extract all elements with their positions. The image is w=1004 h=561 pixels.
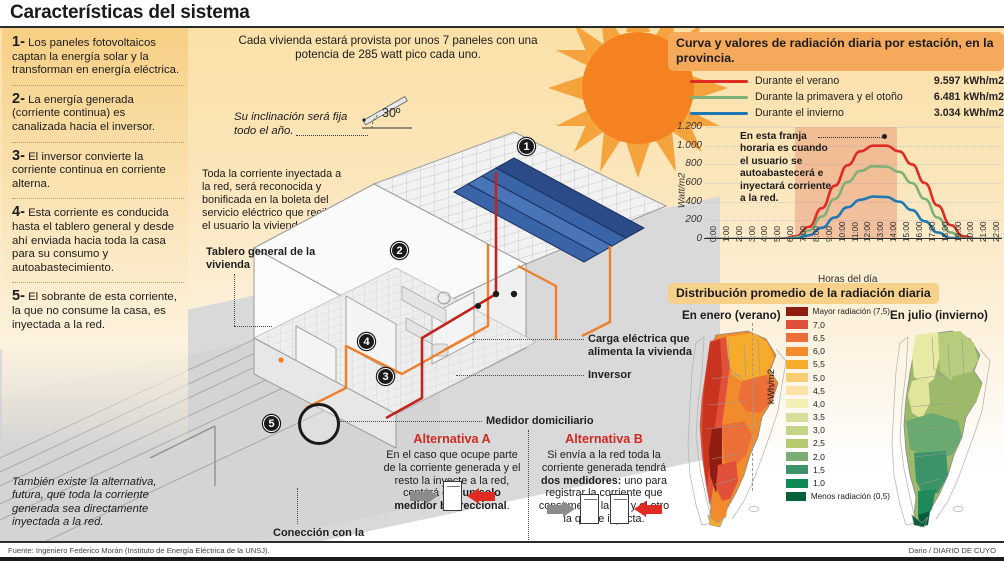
callout-tablero-leader <box>234 274 235 326</box>
chart-x-tick-22: 22:00 <box>992 222 1001 243</box>
step-5: 5- El sobrante de esta corriente, la que… <box>12 290 180 332</box>
legend-swatch-invierno <box>690 112 748 115</box>
radiation-scale-rows: Mayor radiación (7,5)7,06,56,05,55,04,54… <box>786 305 890 503</box>
map-left-caption: En enero (verano) <box>682 309 781 322</box>
meter-highlight-ring <box>298 403 340 445</box>
marker-2: 2 <box>391 242 408 259</box>
map-argentina-july <box>886 325 994 531</box>
legend-label-invierno: Durante el invierno <box>755 107 934 119</box>
chart-x-tick-0: 0:00 <box>709 226 718 242</box>
chart-x-tick-6: 6:00 <box>786 226 795 242</box>
step-2: 2- La energía generada (corriente contin… <box>12 93 180 135</box>
callout-tablero-leader-h <box>234 326 272 327</box>
legend-label-primavera: Durante la primavera y el otoño <box>755 91 934 103</box>
scale-swatch-5 <box>786 373 808 382</box>
scale-row-7: 4,0 <box>786 397 890 410</box>
tilt-angle-label: 30º <box>382 106 400 120</box>
marker-3: 3 <box>377 368 394 385</box>
scale-swatch-1 <box>786 320 808 329</box>
arrow-inject-icon-b <box>634 501 662 517</box>
radiation-scale-axis <box>752 323 753 491</box>
callout-conexion-leader <box>297 488 298 524</box>
alternative-b-title: Alternativa B <box>534 432 674 446</box>
map-right-caption: En julio (invierno) <box>890 309 988 322</box>
step-2-number: 2- <box>12 91 25 107</box>
radiation-scale-unit: kWh/m2 <box>766 369 777 404</box>
chart-x-tick-19: 19:00 <box>954 222 963 243</box>
callout-inversor: Inversor <box>588 369 631 382</box>
footer-bottom-bar <box>0 557 1004 561</box>
callout-carga-leader <box>472 339 584 340</box>
step-divider-2 <box>12 142 184 143</box>
step-3-number: 3- <box>12 148 25 164</box>
marker-1: 1 <box>518 138 535 155</box>
scale-swatch-9 <box>786 426 808 435</box>
legend-value-verano: 9.597 kWh/m2 <box>934 75 1004 87</box>
chart-x-tick-17: 17:00 <box>928 222 937 243</box>
step-1-number: 1- <box>12 34 25 50</box>
alternative-a-meters <box>382 481 522 511</box>
panels-note: Cada vivienda estará provista por unos 7… <box>228 34 548 62</box>
step-4: 4- Esta corriente es conducida hasta el … <box>12 206 180 275</box>
scale-label-5: 5,0 <box>813 373 825 383</box>
scale-label-11: 2,0 <box>813 452 825 462</box>
scale-label-10: 2,5 <box>813 438 825 448</box>
step-3-text: El inversor convierte la corriente conti… <box>12 151 166 190</box>
legend-swatch-verano <box>690 80 748 83</box>
scale-swatch-11 <box>786 452 808 461</box>
chart-franja-note: En esta franja horaria es cuando el usua… <box>740 131 836 205</box>
scale-swatch-4 <box>786 360 808 369</box>
scale-row-8: 3,5 <box>786 411 890 424</box>
alternative-b: Alternativa B Si envía a la red toda la … <box>534 432 674 526</box>
callout-tablero: Tablero general de la vivienda <box>206 246 316 272</box>
scale-swatch-0 <box>786 307 808 316</box>
callout-medidor: Medidor domiciliario <box>486 415 594 428</box>
scale-label-8: 3,5 <box>813 412 825 422</box>
scale-label-14: Menos radiación (0,5) <box>811 492 890 501</box>
alternative-a-title: Alternativa A <box>382 432 522 446</box>
legend-item-verano: Durante el verano 9.597 kWh/m2 <box>668 75 1004 87</box>
scale-row-0: Mayor radiación (7,5) <box>786 305 890 318</box>
scale-swatch-13 <box>786 479 808 488</box>
chart-y-tick-1000: 1.000 <box>668 140 702 151</box>
scale-label-3: 6,0 <box>813 346 825 356</box>
scale-swatch-8 <box>786 413 808 422</box>
maps-banner: Distribución promedio de la radiación di… <box>668 283 939 304</box>
scale-swatch-10 <box>786 439 808 448</box>
meter-bidirectional-icon <box>443 481 462 511</box>
chart-x-tick-18: 18:00 <box>941 222 950 243</box>
step-4-number: 4- <box>12 204 25 220</box>
alternative-b-body-bold: dos medidores: <box>541 475 621 487</box>
step-divider-4 <box>12 282 184 283</box>
scale-row-6: 4,5 <box>786 384 890 397</box>
alternatives-section: Alternativa A En el caso que ocupe parte… <box>382 432 674 541</box>
chart-x-tick-16: 16:00 <box>915 222 924 243</box>
alternatives-divider <box>528 430 529 541</box>
scale-row-10: 2,5 <box>786 437 890 450</box>
legend-label-verano: Durante el verano <box>755 75 934 87</box>
scale-swatch-12 <box>786 465 808 474</box>
step-divider-3 <box>12 198 184 199</box>
right-panel: Curva y valores de radiación diaria por … <box>668 28 1004 541</box>
chart-x-tick-11: 11:00 <box>851 222 860 242</box>
legend-value-invierno: 3.034 kWh/m2 <box>934 107 1004 119</box>
scale-label-12: 1,5 <box>813 465 825 475</box>
legend-value-primavera: 6.481 kWh/m2 <box>934 91 1004 103</box>
chart-y-tick-600: 600 <box>668 177 702 188</box>
arrow-inject-icon <box>467 488 495 504</box>
marker-4: 4 <box>358 333 375 350</box>
chart-x-tick-1: 1:00 <box>722 226 731 242</box>
step-4-text: Esta corriente es conducida hasta el tab… <box>12 207 174 273</box>
arrow-consume-icon-b <box>547 501 575 517</box>
chart-x-tick-21: 21:00 <box>979 222 988 243</box>
chart-x-tick-15: 15:00 <box>902 222 911 243</box>
chart-x-tick-4: 4:00 <box>760 226 769 242</box>
scale-row-11: 2,0 <box>786 450 890 463</box>
chart-x-tick-12: 12:00 <box>863 222 872 243</box>
chart-x-tick-5: 5:00 <box>773 226 782 242</box>
chart-y-tick-200: 200 <box>668 214 702 225</box>
chart-x-tick-13: 13:00 <box>876 222 885 243</box>
chart-x-tick-14: 14:00 <box>889 222 898 243</box>
radiation-scale: Mayor radiación (7,5)7,06,56,05,55,04,54… <box>786 305 890 503</box>
house-illustration <box>196 126 686 456</box>
meter-consumption-icon <box>580 494 599 524</box>
chart-legend: Durante el verano 9.597 kWh/m2 Durante l… <box>668 75 1004 119</box>
chart-x-tick-2: 2:00 <box>735 226 744 242</box>
chart-franja-leader <box>818 137 884 138</box>
scale-swatch-14 <box>786 492 806 501</box>
scale-row-9: 3,0 <box>786 424 890 437</box>
future-alternative-note: También existe la alternativa, futura, q… <box>12 476 177 530</box>
maps-section: Distribución promedio de la radiación di… <box>668 283 1004 541</box>
page-title: Características del sistema <box>10 2 250 24</box>
scale-row-14: Menos radiación (0,5) <box>786 490 890 503</box>
infographic-canvas: 1- Los paneles fotovoltaicos captan la e… <box>0 28 1004 541</box>
scale-row-13: 1,0 <box>786 476 890 489</box>
chart-x-tick-20: 20:00 <box>966 222 975 243</box>
alternative-b-body-1: Si envía a la red toda la corriente gene… <box>542 449 666 474</box>
step-1-text: Los paneles fotovoltaicos captan la ener… <box>12 37 179 76</box>
scale-row-12: 1,5 <box>786 463 890 476</box>
chart-y-tick-1200: 1.200 <box>668 121 702 132</box>
scale-label-4: 5,5 <box>813 359 825 369</box>
meter-injection-icon <box>610 494 629 524</box>
chart-y-tick-0: 0 <box>668 233 702 244</box>
chart-x-tick-8: 8:00 <box>812 226 821 242</box>
scale-label-1: 7,0 <box>813 320 825 330</box>
chart-banner: Curva y valores de radiación diaria por … <box>668 32 1004 71</box>
callout-conexion: Conección con la red eléctrica <box>273 527 373 541</box>
scale-row-2: 6,5 <box>786 331 890 344</box>
callout-medidor-leader <box>340 421 482 422</box>
legend-swatch-primavera <box>690 96 748 99</box>
legend-item-invierno: Durante el invierno 3.034 kWh/m2 <box>668 107 1004 119</box>
marker-5: 5 <box>263 415 280 432</box>
chart-x-tick-7: 7:00 <box>799 226 808 242</box>
chart-franja-leader-dot <box>882 134 887 139</box>
step-5-number: 5- <box>12 288 25 304</box>
scale-row-4: 5,5 <box>786 358 890 371</box>
alternative-a: Alternativa A En el caso que ocupe parte… <box>382 432 522 513</box>
scale-swatch-2 <box>786 333 808 342</box>
scale-row-1: 7,0 <box>786 318 890 331</box>
step-3: 3- El inversor convierte la corriente co… <box>12 150 180 192</box>
arrow-consume-icon <box>410 488 438 504</box>
footer-credit: Dario / DIARIO DE CUYO <box>909 546 996 555</box>
steps-panel: 1- Los paneles fotovoltaicos captan la e… <box>2 28 188 488</box>
step-2-text: La energía generada (corriente continua)… <box>12 94 155 133</box>
radiation-chart: Watt/m2 02004006008001.0001.200 0:001:00… <box>668 123 1004 288</box>
scale-label-0: Mayor radiación (7,5) <box>813 307 890 316</box>
chart-x-tick-10: 10:00 <box>838 222 847 243</box>
step-5-text: El sobrante de esta corriente, la que no… <box>12 291 177 330</box>
scale-swatch-6 <box>786 386 808 395</box>
header-bar: Características del sistema <box>0 0 1004 27</box>
step-1: 1- Los paneles fotovoltaicos captan la e… <box>12 36 180 78</box>
step-divider-1 <box>12 85 184 86</box>
chart-y-tick-400: 400 <box>668 196 702 207</box>
scale-swatch-3 <box>786 347 808 356</box>
map-argentina-january <box>682 325 790 531</box>
scale-label-2: 6,5 <box>813 333 825 343</box>
callout-inversor-leader <box>456 375 584 376</box>
alternative-b-meters <box>534 494 674 524</box>
scale-label-7: 4,0 <box>813 399 825 409</box>
scale-swatch-7 <box>786 399 808 408</box>
chart-x-tick-9: 9:00 <box>825 226 834 242</box>
scale-label-13: 1,0 <box>813 478 825 488</box>
scale-label-9: 3,0 <box>813 425 825 435</box>
scale-row-5: 5,0 <box>786 371 890 384</box>
chart-y-tick-800: 800 <box>668 158 702 169</box>
footer-source: Fuente: Ingeniero Federico Morán (Instit… <box>8 546 270 555</box>
scale-label-6: 4,5 <box>813 386 825 396</box>
scale-row-3: 6,0 <box>786 345 890 358</box>
chart-x-tick-3: 3:00 <box>748 226 757 242</box>
legend-item-primavera: Durante la primavera y el otoño 6.481 kW… <box>668 91 1004 103</box>
